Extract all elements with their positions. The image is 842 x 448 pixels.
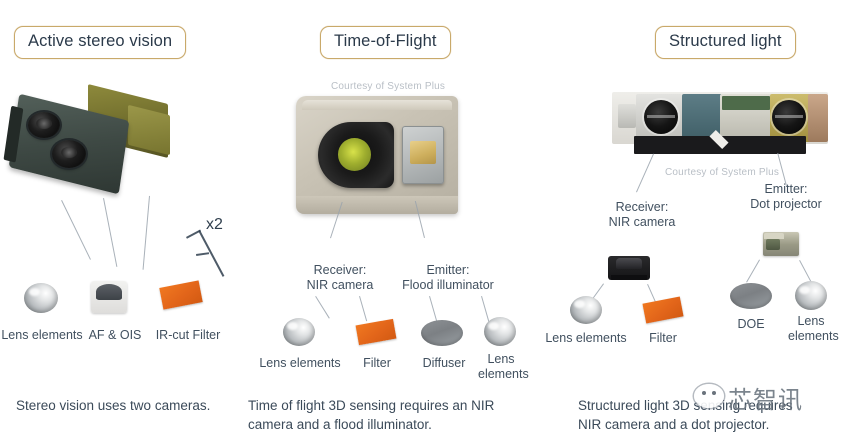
diagram-canvas: Active stereo vision Time-of-Flight Stru…: [0, 0, 842, 448]
callout-receiver-nir-camera: Receiver: NIR camera: [292, 263, 388, 292]
camera-lens-top-icon: [28, 112, 60, 138]
doe-disc-icon: [730, 283, 772, 309]
lens-element-icon: [283, 318, 315, 346]
leader-line: [103, 198, 117, 267]
caption-line-1: Structured light 3D sensing requires: [578, 398, 793, 413]
nir-camera-receiver-lens-icon: [318, 122, 394, 188]
part-label-lens-elements: Lens elements: [788, 314, 834, 344]
callout-receiver-nir-camera: Receiver: NIR camera: [594, 200, 690, 229]
lens-element-icon: [570, 296, 602, 324]
leader-line: [481, 296, 490, 323]
callout-line-2: Flood illuminator: [402, 278, 494, 292]
caption-time-of-flight: Time of flight 3D sensing requires an NI…: [248, 396, 510, 434]
time-of-flight-module-photo: [296, 96, 458, 226]
part-label-filter: Filter: [350, 356, 404, 371]
column-title-time-of-flight: Time-of-Flight: [320, 26, 451, 59]
part-label-doe: DOE: [726, 317, 776, 332]
leader-line: [429, 296, 437, 321]
part-label-lens-elements: Lens elements: [258, 356, 342, 371]
callout-line-2: NIR camera: [307, 278, 374, 292]
module-base-bracket: [634, 136, 806, 154]
courtesy-note-structured-light: Courtesy of System Plus: [665, 167, 779, 178]
callout-line-1: Emitter:: [764, 182, 807, 196]
dot-projector-module-icon: [763, 232, 799, 256]
stereo-camera-module-photo: [6, 88, 166, 192]
part-label-lens-elements: Lens elements: [478, 352, 524, 382]
caption-active-stereo-vision: Stereo vision uses two cameras.: [16, 396, 266, 415]
bracket-tick: [196, 252, 209, 256]
leader-line: [359, 296, 367, 321]
dot-projector-lens-icon: [772, 100, 806, 134]
diffuser-disc-icon: [421, 320, 463, 346]
ir-cut-filter-chip-icon: [159, 280, 202, 309]
quantity-multiplier-label: x2: [206, 216, 223, 234]
leader-line: [61, 200, 91, 260]
module-segment: [808, 94, 828, 142]
module-segment: [618, 104, 636, 128]
filter-chip-icon: [356, 319, 397, 345]
lens-element-icon: [484, 317, 516, 346]
leader-line: [799, 260, 812, 283]
leader-line: [746, 260, 760, 283]
leader-line: [143, 196, 150, 270]
af-ois-actuator-icon: [91, 281, 127, 313]
callout-emitter-dot-projector: Emitter: Dot projector: [736, 182, 836, 211]
nir-camera-lens-icon: [644, 100, 678, 134]
callout-emitter-flood-illuminator: Emitter: Flood illuminator: [386, 263, 510, 292]
callout-line-2: NIR camera: [609, 215, 676, 229]
module-segment-detail: [722, 96, 770, 110]
part-label-filter: Filter: [636, 331, 690, 346]
callout-line-1: Emitter:: [426, 263, 469, 277]
column-title-structured-light: Structured light: [655, 26, 796, 59]
lens-element-icon: [795, 281, 827, 310]
camera-lens-bottom-icon: [52, 140, 86, 168]
part-label-ir-cut-filter: IR-cut Filter: [142, 328, 234, 343]
nir-camera-module-icon: [608, 256, 650, 280]
callout-line-1: Receiver:: [314, 263, 367, 277]
filter-chip-icon: [642, 297, 683, 324]
callout-line-2: Dot projector: [750, 197, 822, 211]
part-label-lens-elements: Lens elements: [544, 331, 628, 346]
leader-line: [315, 296, 330, 319]
structured-light-module-photo: [612, 88, 828, 162]
caption-line-1: Time of flight 3D sensing requires an NI…: [248, 398, 494, 413]
column-title-active-stereo-vision: Active stereo vision: [14, 26, 186, 59]
caption-structured-light: Structured light 3D sensing requires NIR…: [578, 396, 842, 434]
caption-line-2: camera and a flood illuminator.: [248, 417, 432, 432]
caption-line-2: NIR camera and a dot projector.: [578, 417, 769, 432]
callout-line-1: Receiver:: [616, 200, 669, 214]
courtesy-note-time-of-flight: Courtesy of System Plus: [331, 81, 445, 92]
lens-element-icon: [24, 283, 58, 313]
part-label-diffuser: Diffuser: [412, 356, 476, 371]
flood-illuminator-emitter-icon: [402, 126, 444, 184]
